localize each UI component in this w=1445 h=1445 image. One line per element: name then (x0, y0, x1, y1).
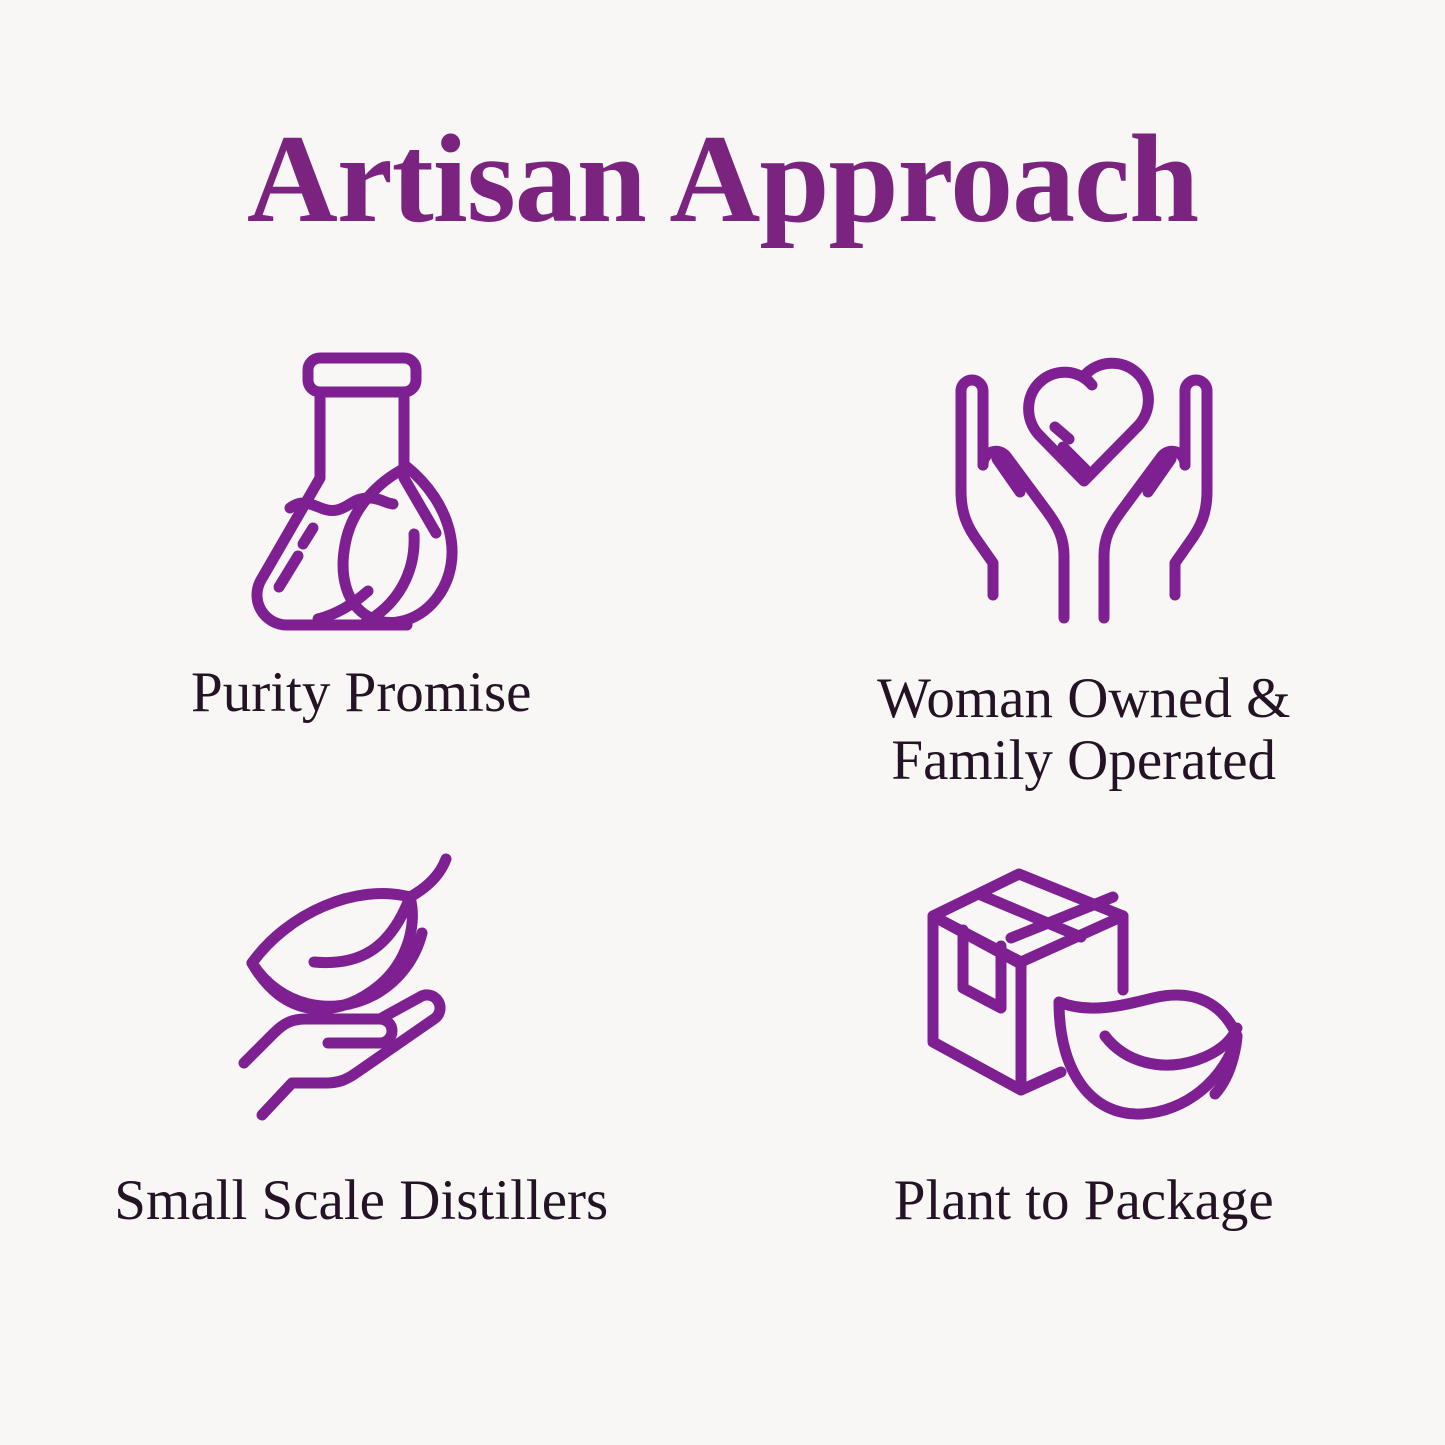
feature-label: Plant to Package (894, 1170, 1274, 1232)
hand-holding-leaf-icon (0, 840, 723, 1130)
flask-leaf-icon (0, 340, 723, 640)
feature-small-scale-distillers[interactable]: Small Scale Distillers (0, 840, 723, 1340)
feature-grid: Purity Promise (0, 340, 1445, 1340)
feature-purity-promise[interactable]: Purity Promise (0, 340, 723, 840)
feature-label: Woman Owned & Family Operated (877, 668, 1290, 791)
hands-holding-heart-icon (723, 340, 1445, 640)
artisan-approach-panel: Artisan Approach (0, 0, 1445, 1445)
page-title: Artisan Approach (0, 112, 1445, 248)
box-leaf-icon (723, 840, 1445, 1130)
feature-label: Small Scale Distillers (114, 1170, 608, 1232)
feature-label: Purity Promise (191, 662, 531, 724)
feature-woman-owned[interactable]: Woman Owned & Family Operated (723, 340, 1445, 840)
feature-plant-to-package[interactable]: Plant to Package (723, 840, 1445, 1340)
